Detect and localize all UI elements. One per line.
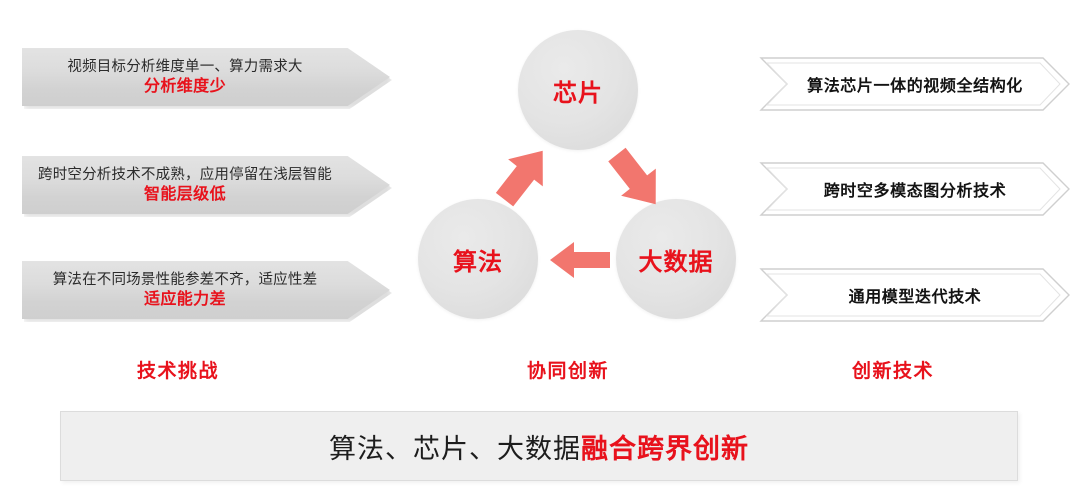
- left-banner-2[interactable]: 跨时空分析技术不成熟，应用停留在浅层智能 智能层级低: [22, 156, 390, 214]
- cycle-node-algorithm-label: 算法: [453, 242, 503, 277]
- summary-banner-text-red: 融合跨界创新: [581, 427, 749, 466]
- summary-banner: 算法、芯片、大数据融合跨界创新: [60, 411, 1018, 481]
- right-banner-1[interactable]: 算法芯片一体的视频全结构化: [760, 57, 1070, 111]
- right-banner-2-label: 跨时空多模态图分析技术: [760, 162, 1070, 216]
- cycle-arrow-algorithm-to-chip: [489, 140, 557, 212]
- cycle-node-bigdata-label: 大数据: [639, 242, 714, 277]
- left-banner-3-keyword: 适应能力差: [144, 289, 226, 310]
- left-banner-1[interactable]: 视频目标分析维度单一、算力需求大 分析维度少: [22, 48, 390, 106]
- left-banner-3-description: 算法在不同场景性能参差不齐，适应性差: [53, 271, 318, 289]
- right-banner-2[interactable]: 跨时空多模态图分析技术: [760, 162, 1070, 216]
- section-label-challenges: 技术挑战: [137, 356, 219, 383]
- cycle-node-chip-label: 芯片: [553, 73, 603, 108]
- right-banner-1-label: 算法芯片一体的视频全结构化: [760, 57, 1070, 111]
- summary-banner-text-dark: 算法、芯片、大数据: [329, 427, 581, 466]
- slide-canvas: 视频目标分析维度单一、算力需求大 分析维度少 跨时空分析技术不成熟，应用停留在浅…: [0, 0, 1080, 499]
- left-banner-2-description: 跨时空分析技术不成熟，应用停留在浅层智能: [38, 166, 332, 184]
- section-label-technologies: 创新技术: [852, 356, 934, 383]
- cycle-arrow-chip-to-bigdata: [600, 142, 672, 216]
- cycle-node-algorithm[interactable]: 算法: [418, 199, 538, 319]
- left-banner-3[interactable]: 算法在不同场景性能参差不齐，适应性差 适应能力差: [22, 261, 390, 319]
- left-banner-1-keyword: 分析维度少: [144, 76, 226, 97]
- left-banner-2-keyword: 智能层级低: [144, 184, 226, 205]
- right-banner-3[interactable]: 通用模型迭代技术: [760, 268, 1070, 322]
- cycle-node-bigdata[interactable]: 大数据: [616, 199, 736, 319]
- cycle-node-chip[interactable]: 芯片: [518, 30, 638, 150]
- section-label-collaboration: 协同创新: [527, 356, 609, 383]
- left-banner-1-description: 视频目标分析维度单一、算力需求大: [67, 58, 302, 76]
- cycle-arrow-bigdata-to-algorithm: [548, 238, 612, 282]
- right-banner-3-label: 通用模型迭代技术: [760, 268, 1070, 322]
